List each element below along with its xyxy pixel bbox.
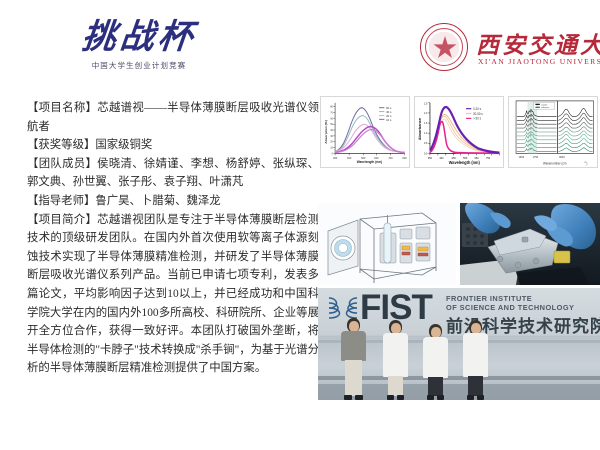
seal-star-icon — [433, 36, 457, 60]
svg-text:500: 500 — [361, 156, 366, 160]
person-4-shoe-right — [477, 395, 484, 400]
svg-text:600: 600 — [374, 156, 379, 160]
svg-text:): ) — [586, 161, 587, 165]
svg-text:450: 450 — [452, 156, 457, 160]
team-group-photo: FIST FRONTIER INSTITUTE OF SCIENCE AND T… — [318, 288, 600, 400]
absorbance-chart-svg: 0-20 s 20-50 s > 50 s Wavelength (nm) Ab… — [415, 97, 503, 167]
ftir-chart-svg: sample reference 160017503000 — [509, 97, 597, 167]
person-4 — [458, 318, 492, 400]
person-2-shoe-right — [397, 395, 404, 400]
svg-text:350: 350 — [428, 156, 433, 160]
project-name-label: 【项目名称】 — [27, 102, 97, 114]
svg-text:sample: sample — [541, 104, 548, 106]
person-2-labcoat — [383, 333, 408, 377]
svg-text:0.0: 0.0 — [424, 152, 428, 155]
fist-english-name: FRONTIER INSTITUTE OF SCIENCE AND TECHNO… — [446, 294, 574, 313]
person-2-shoe-left — [387, 395, 394, 400]
advisor-value: 鲁广昊、卜腊菊、魏泽龙 — [95, 195, 220, 207]
project-name-line: 【项目名称】芯越谱视——半导体薄膜断层吸收光谱仪领航者 — [27, 99, 319, 136]
svg-text:20-50 s: 20-50 s — [473, 112, 483, 116]
svg-text:Wavelength (nm): Wavelength (nm) — [449, 160, 481, 165]
svg-text:300: 300 — [333, 156, 338, 160]
ftir-waterfall-chart: sample reference 160017503000 — [508, 96, 598, 168]
svg-text:3000: 3000 — [559, 155, 565, 159]
hands-photo-svg — [460, 203, 600, 285]
figure-row: 60 s 40 s 20 s 10 s Wavelength (nm) Abso… — [320, 96, 598, 168]
poster-header: 挑战杯 中国大学生创业计划竞赛 西安交通大学 XI'AN JIAOTONG UN… — [0, 0, 600, 92]
cad-render-svg — [318, 203, 456, 285]
svg-text:Absorbance: Absorbance — [418, 118, 422, 140]
svg-text:> 50 s: > 50 s — [473, 117, 481, 121]
svg-text:650: 650 — [475, 156, 480, 160]
advisor-line: 【指导老师】鲁广昊、卜腊菊、魏泽龙 — [27, 192, 319, 211]
university-seal-icon — [420, 23, 468, 71]
svg-text:1.0: 1.0 — [424, 132, 428, 135]
svg-text:400: 400 — [439, 156, 444, 160]
university-name-cn: 西安交通大学 — [476, 26, 600, 60]
person-3-legs — [428, 377, 443, 396]
award-label: 【获奖等级】 — [27, 139, 95, 151]
challenge-cup-subtitle: 中国大学生创业计划竞赛 — [54, 60, 224, 71]
svg-text:800: 800 — [402, 156, 407, 160]
project-description-block: 【项目名称】芯越谱视——半导体薄膜断层吸收光谱仪领航者 【获奖等级】国家级铜奖 … — [27, 99, 319, 378]
absorbance-legend: 0-20 s 20-50 s > 50 s — [466, 107, 483, 121]
intro-value: 芯越谱视团队是专注于半导体薄膜断层检测技术的顶级研发团队。在国内外首次使用软等离… — [27, 214, 319, 375]
intro-line: 【项目简介】芯越谱视团队是专注于半导体薄膜断层检测技术的顶级研发团队。在国内外首… — [27, 211, 319, 378]
award-line: 【获奖等级】国家级铜奖 — [27, 136, 319, 155]
advisor-label: 【指导老师】 — [27, 195, 95, 207]
gloved-hands-assembly-photo — [460, 203, 600, 285]
person-1-shoe-right — [355, 395, 363, 400]
university-name-en: XI'AN JIAOTONG UNIVERSITY — [478, 57, 600, 66]
svg-text:0.5: 0.5 — [424, 142, 428, 145]
svg-text:Wavelength (nm): Wavelength (nm) — [357, 160, 382, 164]
team-line: 【团队成员】侯晓清、徐婧谨、李想、杨舒婷、张纵琛、郭文典、孙世翼、张子彤、袁子翔… — [27, 155, 319, 192]
svg-text:Wavenumber (cm: Wavenumber (cm — [543, 161, 567, 165]
svg-text:550: 550 — [463, 156, 468, 160]
person-2-legs — [388, 376, 403, 396]
svg-text:750: 750 — [486, 156, 491, 160]
person-2 — [378, 318, 412, 400]
svg-text:400: 400 — [347, 156, 352, 160]
person-1-shirt — [341, 331, 366, 361]
media-row — [318, 203, 600, 285]
team-label: 【团队成员】 — [27, 158, 97, 170]
svg-text:Absorption (%): Absorption (%) — [324, 120, 328, 144]
svg-text:2.5: 2.5 — [424, 102, 428, 105]
fist-english-line1: FRONTIER INSTITUTE — [446, 294, 574, 303]
svg-text:0-20 s: 0-20 s — [473, 107, 481, 111]
person-3-shoe-right — [437, 395, 444, 400]
svg-text:10 s: 10 s — [386, 118, 392, 122]
person-3 — [418, 318, 452, 400]
svg-text:1750: 1750 — [533, 155, 539, 159]
university-logo: 西安交通大学 XI'AN JIAOTONG UNIVERSITY — [420, 20, 595, 78]
absorption-chart-svg: 60 s 40 s 20 s 10 s Wavelength (nm) Abso… — [321, 97, 409, 167]
person-3-shoe-left — [427, 395, 434, 400]
svg-text:1.5: 1.5 — [424, 122, 428, 125]
instrument-cad-render — [318, 203, 456, 285]
svg-text:2.0: 2.0 — [424, 112, 428, 115]
person-4-shoe-left — [467, 395, 474, 400]
absorbance-spectra-chart: 0-20 s 20-50 s > 50 s Wavelength (nm) Ab… — [414, 96, 504, 168]
person-4-legs — [468, 376, 483, 396]
poster-root: 挑战杯 中国大学生创业计划竞赛 西安交通大学 XI'AN JIAOTONG UN… — [0, 0, 600, 450]
award-value: 国家级铜奖 — [95, 139, 152, 151]
absorption-spectra-chart: 60 s 40 s 20 s 10 s Wavelength (nm) Abso… — [320, 96, 410, 168]
svg-text:700: 700 — [388, 156, 393, 160]
person-4-labcoat — [463, 333, 488, 377]
person-1-legs — [345, 360, 362, 396]
svg-text:reference: reference — [541, 106, 550, 109]
person-3-labcoat — [423, 337, 448, 378]
challenge-cup-wordmark: 挑战杯 — [52, 18, 226, 58]
intro-label: 【项目简介】 — [27, 214, 97, 226]
svg-text:1600: 1600 — [518, 155, 524, 159]
person-1 — [336, 318, 370, 400]
challenge-cup-logo: 挑战杯 中国大学生创业计划竞赛 — [54, 18, 224, 76]
person-1-shoe-left — [344, 395, 352, 400]
